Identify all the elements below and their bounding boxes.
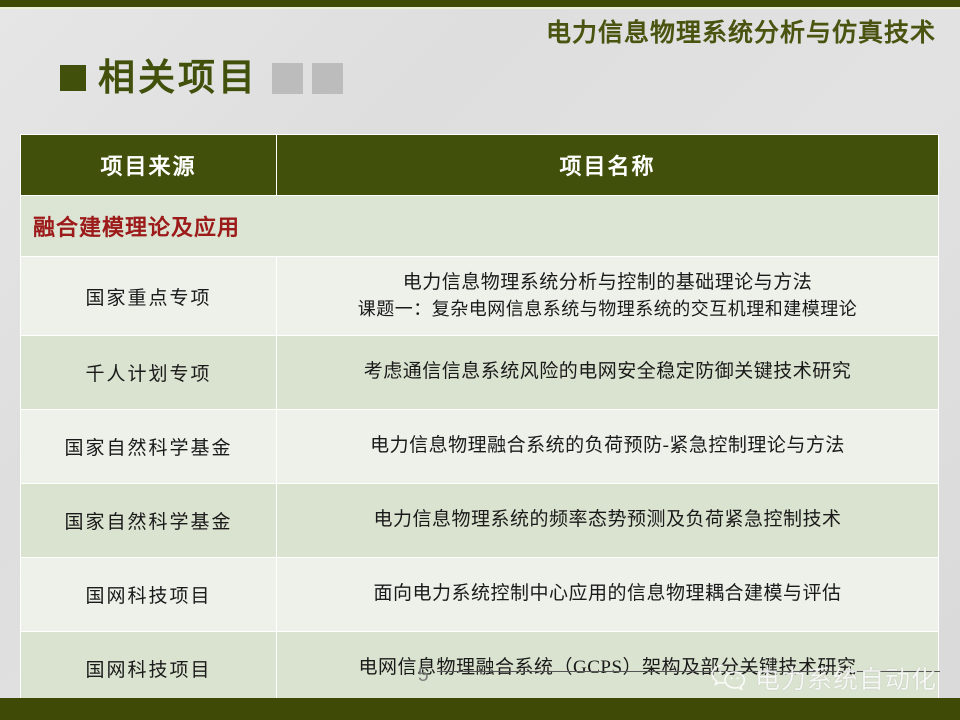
cell-name-line1: 电力信息物理系统分析与控制的基础理论与方法 [287, 270, 928, 297]
cell-name-line1: 面向电力系统控制中心应用的信息物理耦合建模与评估 [287, 581, 928, 608]
column-header-name: 项目名称 [277, 135, 939, 196]
cell-name: 电力信息物理系统的频率态势预测及负荷紧急控制技术 [277, 484, 939, 558]
page-title: 相关项目 [60, 55, 343, 101]
projects-table: 项目来源 项目名称 融合建模理论及应用 国家重点专项 电力信息物理系统分析与控制… [20, 134, 939, 706]
table-section-row: 融合建模理论及应用 [21, 196, 939, 257]
cell-name: 面向电力系统控制中心应用的信息物理耦合建模与评估 [277, 558, 939, 632]
watermark: 电力系统自动化 [710, 660, 937, 696]
slide-canvas: 电力信息物理系统分析与仿真技术 相关项目 项目来源 项目名称 融合建模理论及应用… [0, 0, 960, 720]
cell-name: 考虑通信信息系统风险的电网安全稳定防御关键技术研究 [277, 336, 939, 410]
table-row: 国家自然科学基金 电力信息物理融合系统的负荷预防-紧急控制理论与方法 [21, 410, 939, 484]
decoration-square-2 [312, 63, 343, 94]
table-header-row: 项目来源 项目名称 [21, 135, 939, 196]
cell-source: 国家自然科学基金 [21, 410, 277, 484]
cell-source: 国网科技项目 [21, 632, 277, 706]
cell-source: 国家重点专项 [21, 257, 277, 336]
cell-name-line1: 考虑通信信息系统风险的电网安全稳定防御关键技术研究 [287, 359, 928, 386]
page-title-text: 相关项目 [98, 60, 258, 97]
cell-name-line1: 电力信息物理融合系统的负荷预防-紧急控制理论与方法 [287, 433, 928, 460]
decoration-square-1 [272, 63, 303, 94]
cell-name: 电力信息物理系统分析与控制的基础理论与方法 课题一：复杂电网信息系统与物理系统的… [277, 257, 939, 336]
top-decoration-bar [0, 0, 960, 7]
watermark-text: 电力系统自动化 [755, 660, 937, 696]
cell-source: 千人计划专项 [21, 336, 277, 410]
cell-source: 国家自然科学基金 [21, 484, 277, 558]
cell-name: 电力信息物理融合系统的负荷预防-紧急控制理论与方法 [277, 410, 939, 484]
column-header-source: 项目来源 [21, 135, 277, 196]
table-row: 国网科技项目 面向电力系统控制中心应用的信息物理耦合建模与评估 [21, 558, 939, 632]
square-bullet-icon [60, 65, 86, 91]
section-label: 融合建模理论及应用 [21, 196, 939, 257]
cell-name-line1: 电力信息物理系统的频率态势预测及负荷紧急控制技术 [287, 507, 928, 534]
slide-header-title: 电力信息物理系统分析与仿真技术 [546, 13, 936, 49]
table-row: 千人计划专项 考虑通信信息系统风险的电网安全稳定防御关键技术研究 [21, 336, 939, 410]
bottom-decoration-bar [0, 698, 960, 720]
heading-decoration-squares [272, 63, 343, 94]
page-number: 5 [418, 665, 429, 687]
wechat-icon [710, 663, 748, 693]
table-row: 国家自然科学基金 电力信息物理系统的频率态势预测及负荷紧急控制技术 [21, 484, 939, 558]
cell-source: 国网科技项目 [21, 558, 277, 632]
table-row: 国家重点专项 电力信息物理系统分析与控制的基础理论与方法 课题一：复杂电网信息系… [21, 257, 939, 336]
cell-name-line2: 课题一：复杂电网信息系统与物理系统的交互机理和建模理论 [287, 297, 928, 323]
top-accent-line [0, 7, 960, 9]
